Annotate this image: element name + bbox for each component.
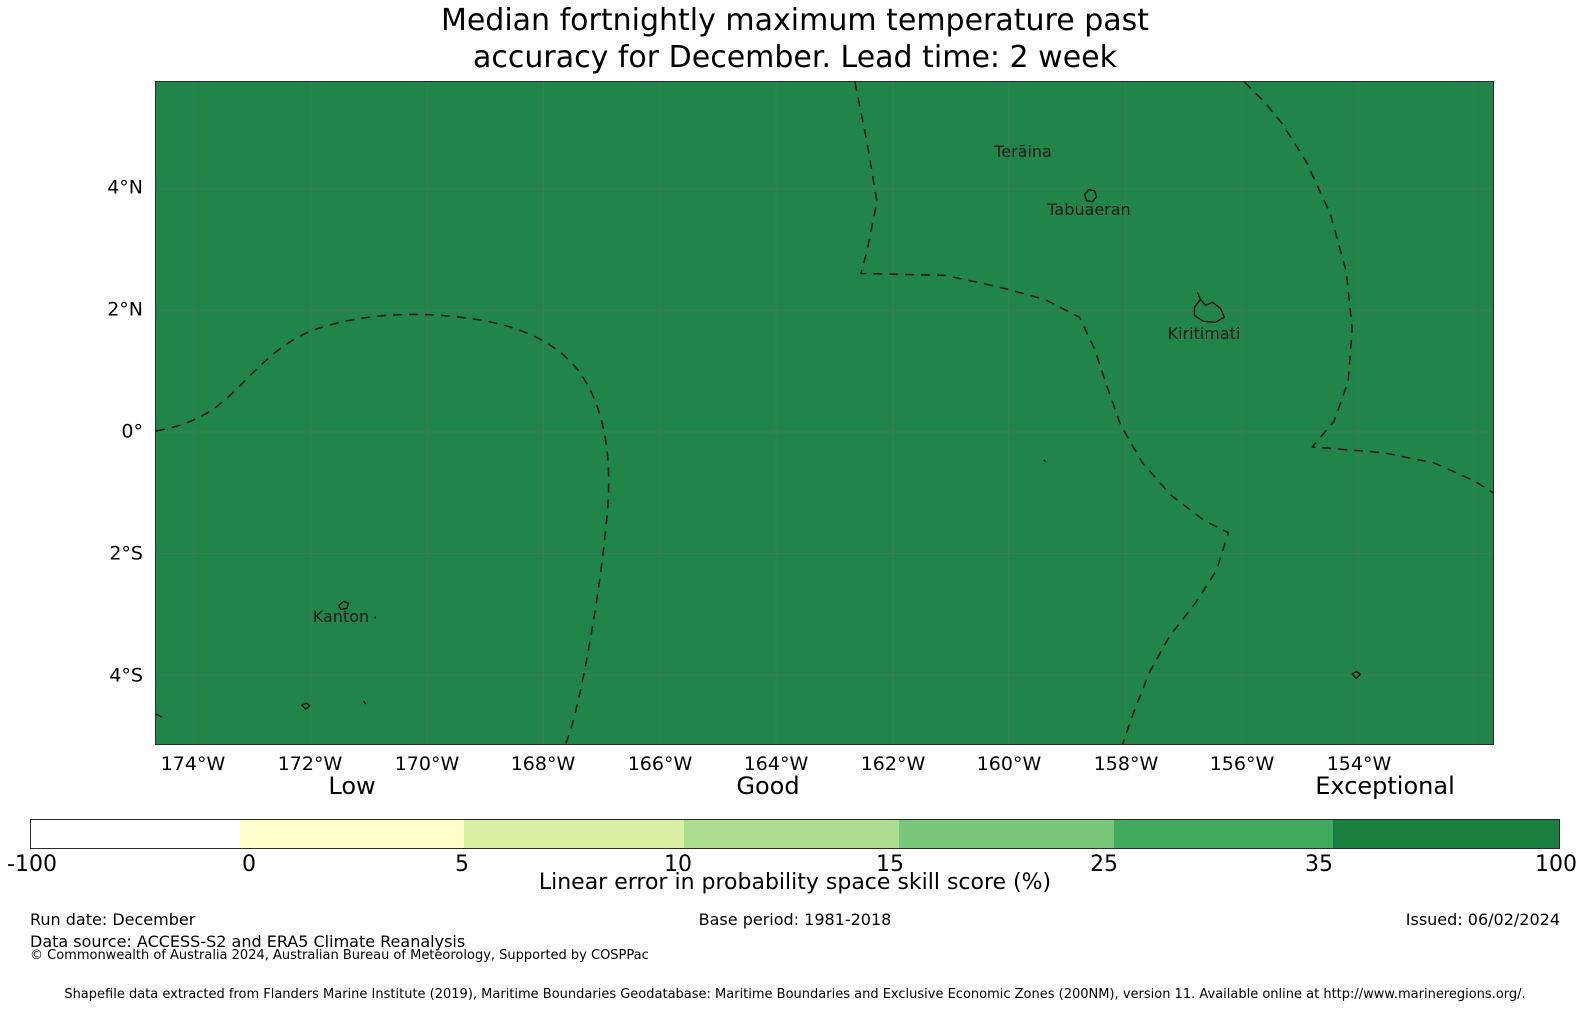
xtick-label: 160°W xyxy=(977,755,1042,774)
footer-shapefile-attribution: Shapefile data extracted from Flanders M… xyxy=(0,987,1590,1003)
footer-issued-date: Issued: 06/02/2024 xyxy=(0,910,1560,929)
colorbar-segment xyxy=(1114,820,1334,848)
colorbar-category-low: Low xyxy=(328,773,375,799)
xtick-label: 158°W xyxy=(1094,755,1159,774)
colorbar-segment xyxy=(899,820,1114,848)
ytick-label: 4°S xyxy=(109,667,143,686)
xtick-label: 170°W xyxy=(395,755,460,774)
colorbar-category-good: Good xyxy=(736,773,799,799)
colorbar-segment xyxy=(1333,820,1559,848)
page-title: Median fortnightly maximum temperature p… xyxy=(0,2,1590,76)
ytick-label: 2°S xyxy=(109,545,143,564)
island-coastlines xyxy=(156,82,1493,744)
ytick-label: 0° xyxy=(121,423,143,442)
colorbar-segment xyxy=(684,820,899,848)
ytick-label: 2°N xyxy=(107,301,143,320)
colorbar-axis-label: Linear error in probability space skill … xyxy=(0,870,1590,896)
colorbar-segment xyxy=(464,820,684,848)
colorbar-segment xyxy=(240,820,465,848)
colorbar-segment xyxy=(31,820,240,848)
xtick-label: 166°W xyxy=(628,755,693,774)
ytick-label: 4°N xyxy=(107,179,143,198)
colorbar-category-exceptional: Exceptional xyxy=(1315,773,1455,799)
xtick-label: 156°W xyxy=(1210,755,1275,774)
colorbar[interactable] xyxy=(30,819,1560,849)
xtick-label: 174°W xyxy=(161,755,226,774)
map-plot-area[interactable] xyxy=(155,81,1494,745)
xtick-label: 168°W xyxy=(511,755,576,774)
footer-copyright: © Commonwealth of Australia 2024, Austra… xyxy=(30,948,649,964)
xtick-label: 162°W xyxy=(861,755,926,774)
